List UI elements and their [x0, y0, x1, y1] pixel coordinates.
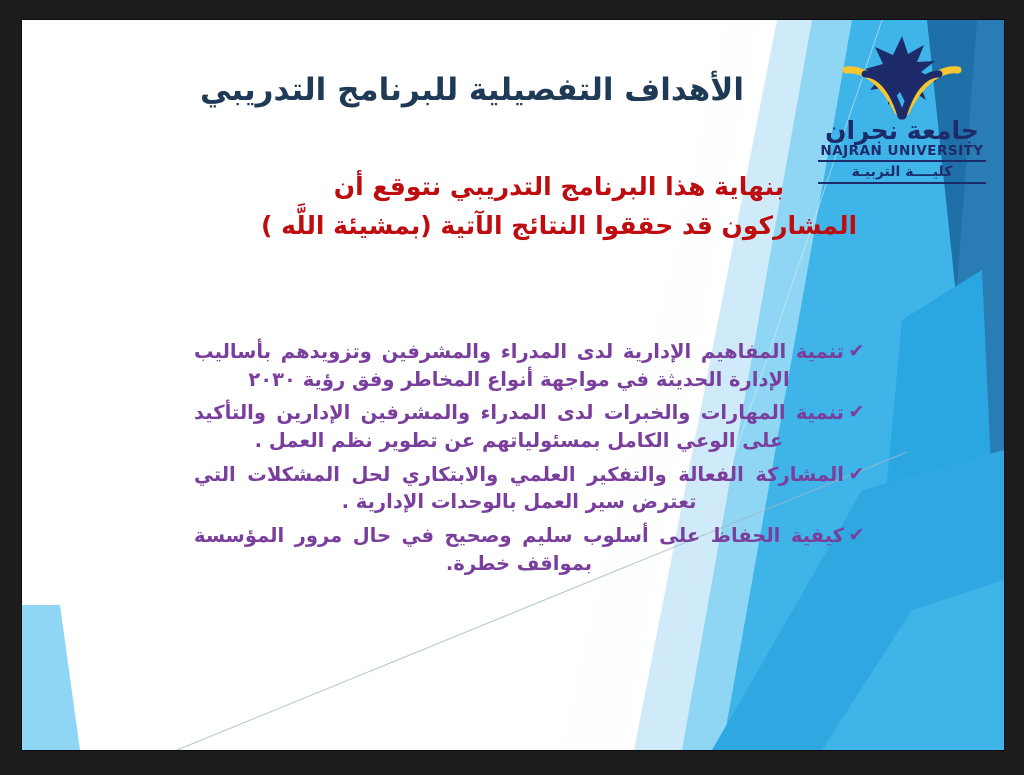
objectives-list: ✔ تنمية المفاهيم الإدارية لدى المدراء وا…	[194, 338, 866, 584]
objective-text: تنمية المهارات والخبرات لدى المدراء والم…	[194, 399, 844, 454]
star-icon	[865, 36, 937, 108]
subtitle-line-1: بنهاية هذا البرنامج التدريبي نتوقع أن	[214, 168, 904, 207]
logo-name-arabic: جامعة نجران	[818, 118, 986, 144]
objective-text: كيفية الحفاظ على أسلوب سليم وصحيح في حال…	[194, 522, 844, 577]
list-item: ✔ تنمية المهارات والخبرات لدى المدراء وا…	[194, 399, 866, 454]
university-logo: جامعة نجران NAJRAN UNIVERSITY كليــــة ا…	[818, 34, 986, 184]
slide-outer-frame: جامعة نجران NAJRAN UNIVERSITY كليــــة ا…	[0, 0, 1024, 775]
najran-star-emblem-icon	[836, 34, 968, 120]
objective-text: تنمية المفاهيم الإدارية لدى المدراء والم…	[194, 338, 844, 393]
check-icon: ✔	[847, 399, 866, 426]
check-icon: ✔	[847, 522, 866, 549]
presentation-slide: جامعة نجران NAJRAN UNIVERSITY كليــــة ا…	[22, 20, 1004, 750]
logo-college-name: كليــــة التربيـة	[818, 164, 986, 184]
list-item: ✔ تنمية المفاهيم الإدارية لدى المدراء وا…	[194, 338, 866, 393]
objective-text: المشاركة الفعالة والتفكير العلمي والابتك…	[194, 461, 844, 516]
check-icon: ✔	[847, 338, 866, 365]
list-item: ✔ المشاركة الفعالة والتفكير العلمي والاب…	[194, 461, 866, 516]
page-title: الأهداف التفصيلية للبرنامج التدريبي	[122, 67, 822, 114]
logo-name-english: NAJRAN UNIVERSITY	[818, 144, 986, 162]
check-icon: ✔	[847, 461, 866, 488]
subtitle-line-2: المشاركون قد حققوا النتائج الآتية (بمشيئ…	[214, 207, 904, 246]
subtitle-block: بنهاية هذا البرنامج التدريبي نتوقع أن ال…	[214, 168, 904, 246]
list-item: ✔ كيفية الحفاظ على أسلوب سليم وصحيح في ح…	[194, 522, 866, 577]
